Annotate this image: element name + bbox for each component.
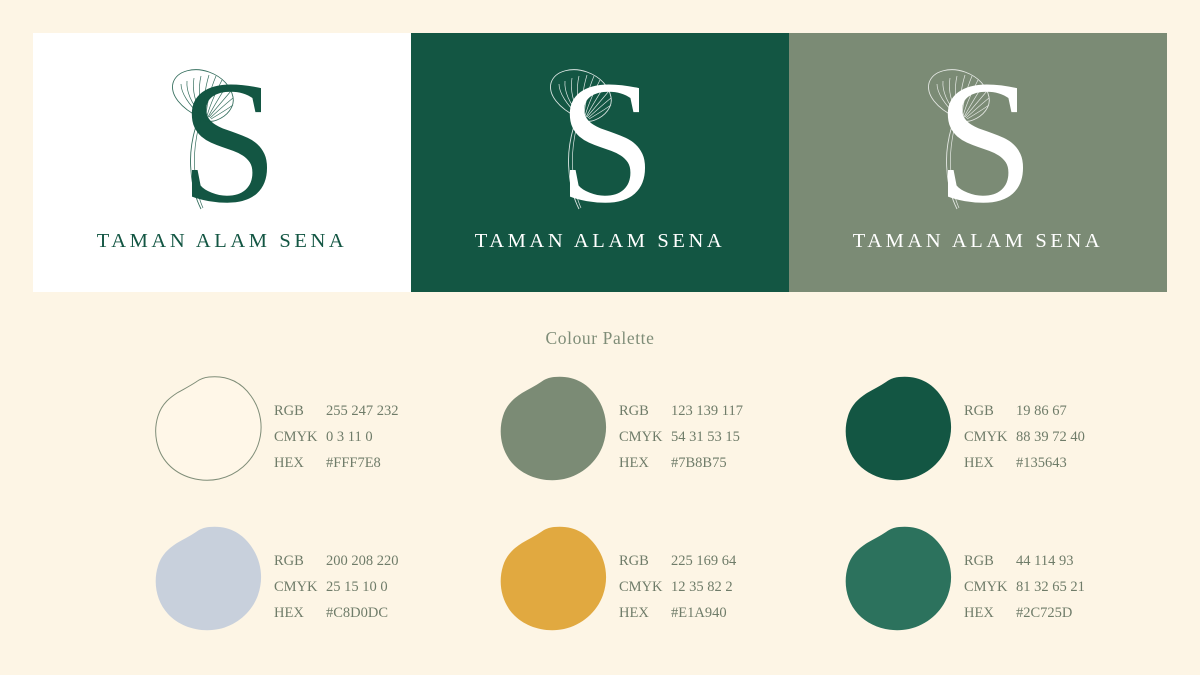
- spec-label-rgb: RGB: [274, 548, 326, 574]
- spec-hex: HEX #FFF7E8: [274, 450, 399, 476]
- spec-value-rgb: 19 86 67: [1016, 398, 1067, 424]
- spec-label-hex: HEX: [274, 600, 326, 626]
- spec-rgb: RGB 200 208 220: [274, 548, 399, 574]
- spec-label-hex: HEX: [274, 450, 326, 476]
- spec-label-rgb: RGB: [619, 548, 671, 574]
- spec-label-rgb: RGB: [274, 398, 326, 424]
- wordmark-sage: TAMAN ALAM SENA: [853, 230, 1104, 253]
- spec-cmyk: CMYK 81 32 65 21: [964, 574, 1085, 600]
- colour-palette-grid: RGB 255 247 232 CMYK 0 3 11 0 HEX #FFF7E…: [150, 372, 1190, 672]
- spec-label-hex: HEX: [964, 450, 1016, 476]
- wordmark-light: TAMAN ALAM SENA: [97, 230, 348, 253]
- spec-cmyk: CMYK 12 35 82 2: [619, 574, 736, 600]
- colour-blob-deep-green: [840, 372, 958, 484]
- spec-rgb: RGB 123 139 117: [619, 398, 743, 424]
- swatch-cell-pale-blue: RGB 200 208 220 CMYK 25 15 10 0 HEX #C8D…: [150, 522, 495, 672]
- swatch-cell-emerald: RGB 44 114 93 CMYK 81 32 65 21 HEX #2C72…: [840, 522, 1185, 672]
- swatch-cell-deep-green: RGB 19 86 67 CMYK 88 39 72 40 HEX #13564…: [840, 372, 1185, 522]
- swatch-specs-deep-green: RGB 19 86 67 CMYK 88 39 72 40 HEX #13564…: [964, 372, 1085, 476]
- spec-label-hex: HEX: [964, 600, 1016, 626]
- spec-hex: HEX #C8D0DC: [274, 600, 399, 626]
- spec-label-hex: HEX: [619, 600, 671, 626]
- spec-label-cmyk: CMYK: [964, 574, 1016, 600]
- spec-cmyk: CMYK 54 31 53 15: [619, 424, 743, 450]
- wordmark-dark: TAMAN ALAM SENA: [475, 230, 726, 253]
- spec-label-cmyk: CMYK: [619, 424, 671, 450]
- palette-row: RGB 200 208 220 CMYK 25 15 10 0 HEX #C8D…: [150, 522, 1190, 672]
- spec-value-rgb: 200 208 220: [326, 548, 399, 574]
- spec-rgb: RGB 44 114 93: [964, 548, 1085, 574]
- spec-value-cmyk: 81 32 65 21: [1016, 574, 1085, 600]
- swatch-specs-pale-blue: RGB 200 208 220 CMYK 25 15 10 0 HEX #C8D…: [274, 522, 399, 626]
- spec-cmyk: CMYK 25 15 10 0: [274, 574, 399, 600]
- brand-monogram-sage: S: [893, 53, 1063, 218]
- spec-value-cmyk: 25 15 10 0: [326, 574, 388, 600]
- spec-hex: HEX #E1A940: [619, 600, 736, 626]
- swatch-specs-golden-yellow: RGB 225 169 64 CMYK 12 35 82 2 HEX #E1A9…: [619, 522, 736, 626]
- brand-monogram-light: S: [137, 53, 307, 218]
- spec-label-rgb: RGB: [619, 398, 671, 424]
- swatch-specs-sage: RGB 123 139 117 CMYK 54 31 53 15 HEX #7B…: [619, 372, 743, 476]
- spec-value-hex: #FFF7E8: [326, 450, 381, 476]
- spec-value-hex: #7B8B75: [671, 450, 727, 476]
- spec-label-hex: HEX: [619, 450, 671, 476]
- spec-value-hex: #2C725D: [1016, 600, 1072, 626]
- logo-showcase-band: S TAMAN ALAM: [33, 33, 1167, 292]
- spec-label-cmyk: CMYK: [964, 424, 1016, 450]
- colour-blob-cream: [150, 372, 268, 484]
- colour-blob-sage: [495, 372, 613, 484]
- spec-label-cmyk: CMYK: [619, 574, 671, 600]
- spec-value-cmyk: 12 35 82 2: [671, 574, 733, 600]
- spec-value-rgb: 44 114 93: [1016, 548, 1073, 574]
- logo-panel-sage: S TAMAN ALAM: [789, 33, 1167, 292]
- spec-value-rgb: 255 247 232: [326, 398, 399, 424]
- swatch-cell-golden-yellow: RGB 225 169 64 CMYK 12 35 82 2 HEX #E1A9…: [495, 522, 840, 672]
- swatch-cell-sage: RGB 123 139 117 CMYK 54 31 53 15 HEX #7B…: [495, 372, 840, 522]
- spec-rgb: RGB 255 247 232: [274, 398, 399, 424]
- swatch-cell-cream: RGB 255 247 232 CMYK 0 3 11 0 HEX #FFF7E…: [150, 372, 495, 522]
- spec-value-hex: #C8D0DC: [326, 600, 388, 626]
- colour-blob-golden-yellow: [495, 522, 613, 634]
- spec-value-rgb: 123 139 117: [671, 398, 743, 424]
- swatch-specs-cream: RGB 255 247 232 CMYK 0 3 11 0 HEX #FFF7E…: [274, 372, 399, 476]
- spec-hex: HEX #7B8B75: [619, 450, 743, 476]
- spec-value-rgb: 225 169 64: [671, 548, 736, 574]
- palette-section-title: Colour Palette: [0, 328, 1200, 349]
- spec-rgb: RGB 225 169 64: [619, 548, 736, 574]
- spec-value-cmyk: 88 39 72 40: [1016, 424, 1085, 450]
- spec-cmyk: CMYK 0 3 11 0: [274, 424, 399, 450]
- spec-cmyk: CMYK 88 39 72 40: [964, 424, 1085, 450]
- swatch-specs-emerald: RGB 44 114 93 CMYK 81 32 65 21 HEX #2C72…: [964, 522, 1085, 626]
- spec-hex: HEX #135643: [964, 450, 1085, 476]
- spec-hex: HEX #2C725D: [964, 600, 1085, 626]
- brand-monogram-dark: S: [515, 53, 685, 218]
- spec-label-rgb: RGB: [964, 548, 1016, 574]
- spec-value-cmyk: 54 31 53 15: [671, 424, 740, 450]
- logo-panel-dark: S TAMAN ALAM: [411, 33, 789, 292]
- logo-panel-light: S TAMAN ALAM: [33, 33, 411, 292]
- spec-label-cmyk: CMYK: [274, 574, 326, 600]
- colour-blob-emerald: [840, 522, 958, 634]
- palette-row: RGB 255 247 232 CMYK 0 3 11 0 HEX #FFF7E…: [150, 372, 1190, 522]
- spec-label-cmyk: CMYK: [274, 424, 326, 450]
- spec-value-cmyk: 0 3 11 0: [326, 424, 373, 450]
- spec-label-rgb: RGB: [964, 398, 1016, 424]
- spec-rgb: RGB 19 86 67: [964, 398, 1085, 424]
- spec-value-hex: #E1A940: [671, 600, 727, 626]
- spec-value-hex: #135643: [1016, 450, 1067, 476]
- colour-blob-pale-blue: [150, 522, 268, 634]
